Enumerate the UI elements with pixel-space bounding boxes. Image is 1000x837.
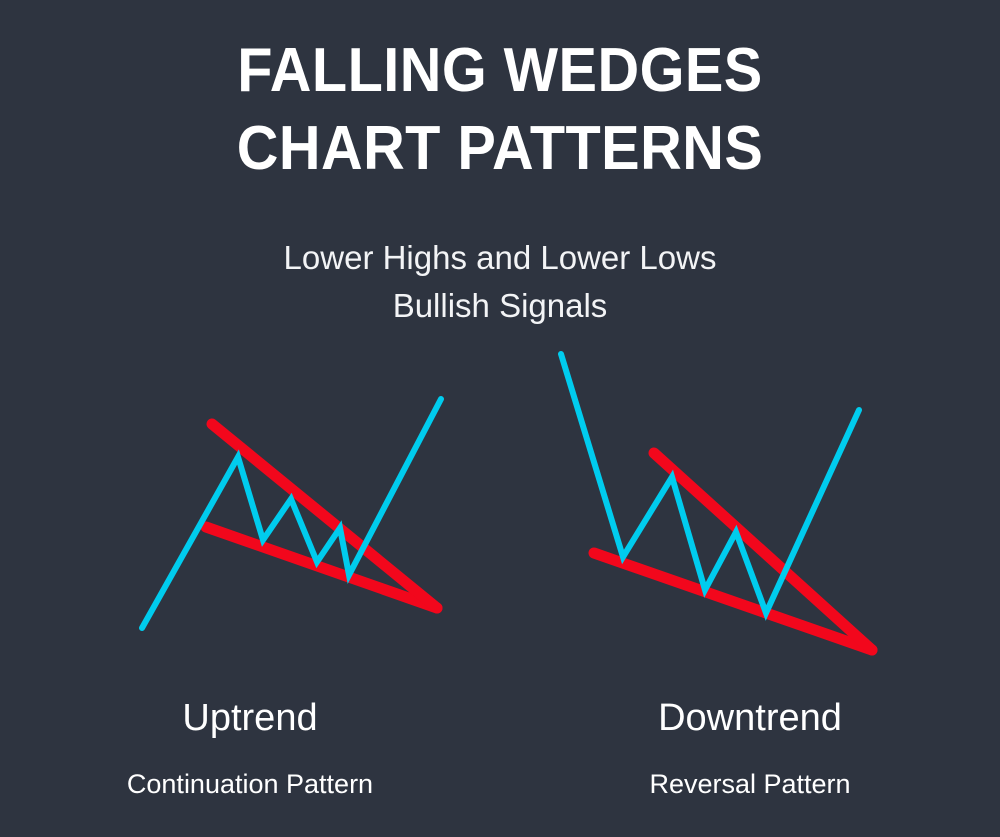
header: FALLING WEDGES CHART PATTERNS [0, 32, 1000, 188]
wedge-diagram-svg [0, 330, 1000, 690]
subtitle: Lower Highs and Lower Lows Bullish Signa… [0, 234, 1000, 330]
captions: Uptrend Continuation Pattern Downtrend R… [0, 690, 1000, 808]
downtrend-price-line [561, 354, 859, 613]
page-title-line-1: FALLING WEDGES [35, 32, 965, 110]
caption-downtrend-title: Downtrend [500, 690, 1000, 746]
caption-downtrend: Downtrend Reversal Pattern [500, 690, 1000, 808]
caption-uptrend-subtitle: Continuation Pattern [0, 760, 500, 808]
subtitle-line-1: Lower Highs and Lower Lows [0, 234, 1000, 282]
caption-uptrend-title: Uptrend [0, 690, 500, 746]
falling-wedges-infographic: FALLING WEDGES CHART PATTERNS Lower High… [0, 0, 1000, 837]
downtrend-chart [561, 354, 872, 650]
uptrend-lower-support-line [206, 527, 437, 608]
caption-uptrend: Uptrend Continuation Pattern [0, 690, 500, 808]
subtitle-line-2: Bullish Signals [0, 282, 1000, 330]
page-title-line-2: CHART PATTERNS [35, 110, 965, 188]
caption-downtrend-subtitle: Reversal Pattern [500, 760, 1000, 808]
downtrend-upper-resistance-line [654, 453, 872, 650]
uptrend-chart [142, 399, 441, 628]
uptrend-upper-resistance-line [212, 424, 437, 608]
wedge-diagrams [0, 330, 1000, 690]
downtrend-lower-support-line [594, 553, 872, 650]
